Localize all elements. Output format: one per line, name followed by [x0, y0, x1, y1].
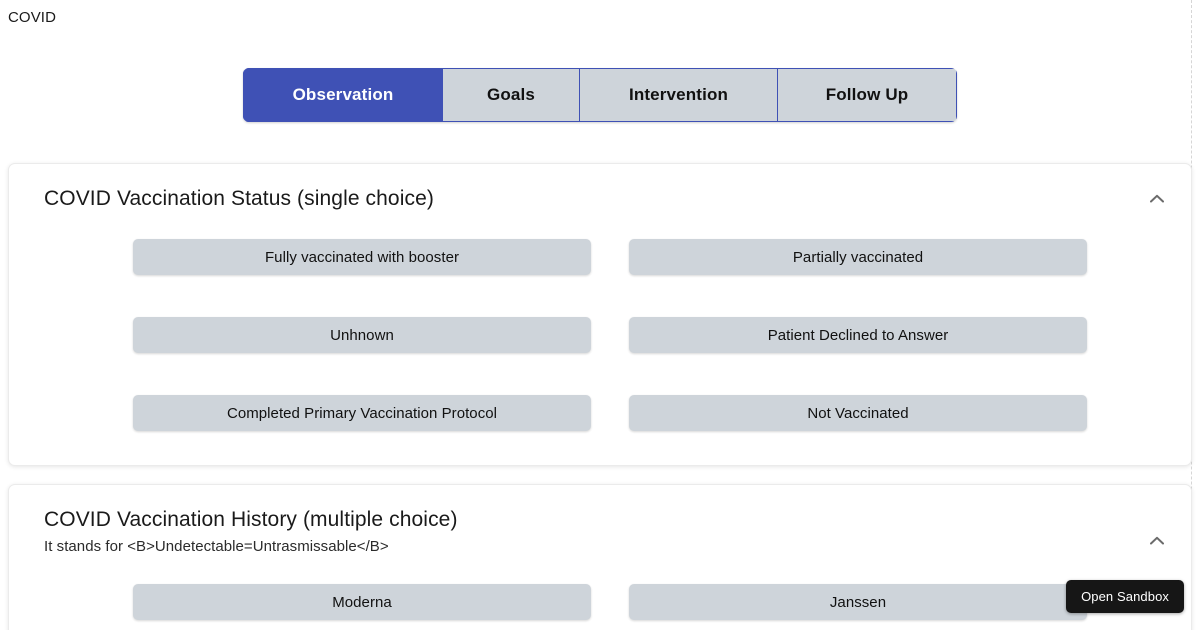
page-root: COVID Observation Goals Intervention Fol…: [0, 0, 1200, 630]
tab-bar: Observation Goals Intervention Follow Up: [243, 68, 957, 122]
option-grid: Fully vaccinated with booster Partially …: [9, 212, 1191, 431]
option-button[interactable]: Unhnown: [133, 317, 591, 353]
option-button[interactable]: Patient Declined to Answer: [629, 317, 1087, 353]
card-subtitle: It stands for <B>Undetectable=Untrasmiss…: [44, 537, 1133, 557]
chevron-up-icon[interactable]: [1145, 186, 1169, 210]
option-button[interactable]: Fully vaccinated with booster: [133, 239, 591, 275]
option-button[interactable]: Completed Primary Vaccination Protocol: [133, 395, 591, 431]
card-vaccination-status: COVID Vaccination Status (single choice)…: [8, 163, 1192, 466]
card-header: COVID Vaccination Status (single choice): [9, 164, 1191, 212]
option-button[interactable]: Moderna: [133, 584, 591, 620]
tab-observation[interactable]: Observation: [243, 68, 443, 122]
card-title: COVID Vaccination History (multiple choi…: [44, 507, 1133, 533]
tab-goals[interactable]: Goals: [443, 68, 580, 122]
option-button[interactable]: Janssen: [629, 584, 1087, 620]
chevron-up-icon[interactable]: [1145, 528, 1169, 552]
card-vaccination-history: COVID Vaccination History (multiple choi…: [8, 484, 1192, 630]
open-sandbox-button[interactable]: Open Sandbox: [1066, 580, 1184, 613]
option-grid: Moderna Janssen: [9, 557, 1191, 620]
chevron-up-icon-glyph: [1150, 194, 1164, 203]
page-top-label: COVID: [8, 8, 56, 27]
option-button[interactable]: Not Vaccinated: [629, 395, 1087, 431]
tab-followup[interactable]: Follow Up: [778, 68, 957, 122]
option-button[interactable]: Partially vaccinated: [629, 239, 1087, 275]
card-title: COVID Vaccination Status (single choice): [44, 186, 1133, 212]
tab-intervention[interactable]: Intervention: [580, 68, 778, 122]
card-header: COVID Vaccination History (multiple choi…: [9, 485, 1191, 557]
chevron-up-icon-glyph: [1150, 536, 1164, 545]
